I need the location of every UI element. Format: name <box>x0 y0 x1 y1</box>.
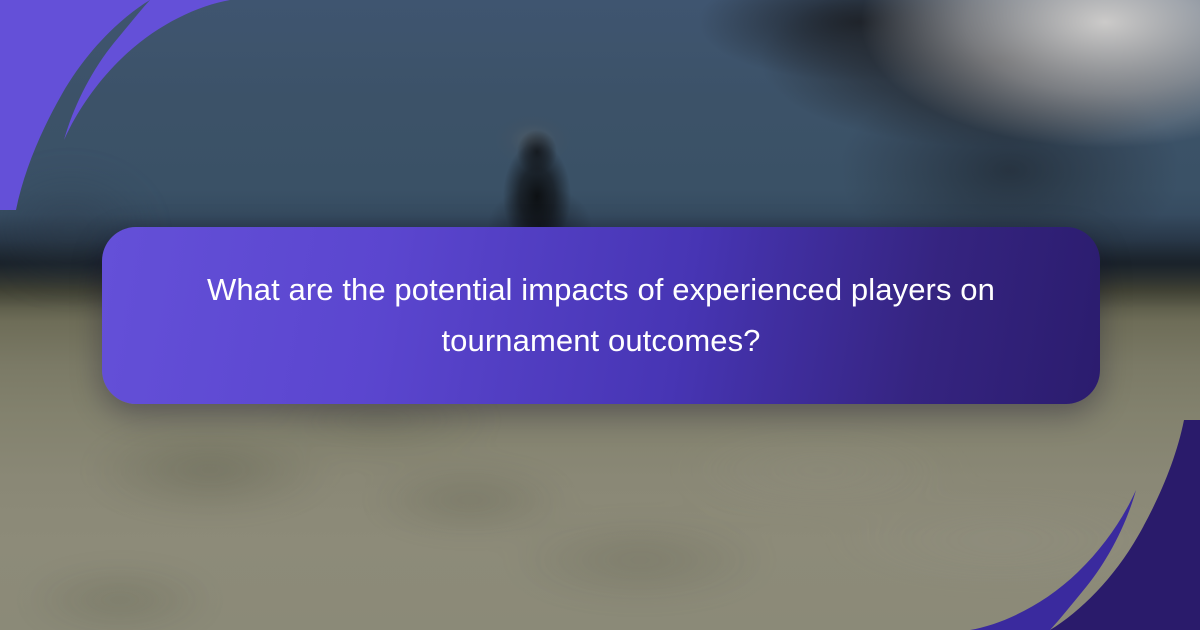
question-text: What are the potential impacts of experi… <box>201 265 1001 365</box>
question-card: What are the potential impacts of experi… <box>102 227 1100 404</box>
question-card-image: What are the potential impacts of experi… <box>0 0 1200 630</box>
